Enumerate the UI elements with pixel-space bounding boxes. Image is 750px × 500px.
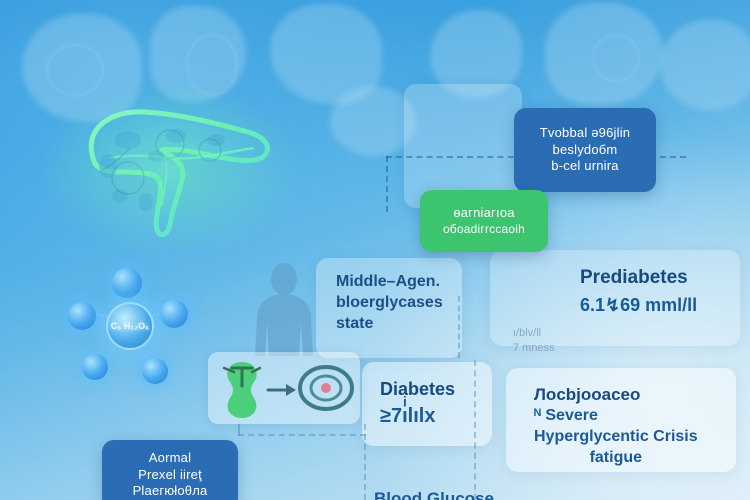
prediabetes-value: 6.1↯69 mml/ll [580,294,697,317]
severe-line-1: Лocbjooaceo [534,384,698,406]
severe-line-3: Hyperglycentic Crisis [534,427,698,448]
receptor-target-icon [300,367,352,409]
insulin-beta-cell-chip[interactable]: Tvobbal ə96jlin beslydoбm b-cel urnira [514,108,656,192]
glucose-molecule-diagram: C₆ H₁₂O₆ [66,266,204,384]
faint-measurement-note: ı/blv/ll 7 mness [513,326,555,356]
diabetes-value: ≥7ıͥlılx [380,403,455,429]
bottom-cut-label: Blood Glucose [374,488,494,500]
faint-note-line-1: ı/blv/ll [513,326,555,341]
molecule-node-left [68,302,96,330]
molecule-node-top [112,268,142,298]
chip-line-1: Aormal [149,450,191,467]
chip-line-2: beslydoбm [553,142,618,159]
molecule-node-bottom-left [82,354,108,380]
prediabetes-heading: Prediabetes [580,266,697,291]
chip-line-2: oбoadiгrccaoih [443,222,525,237]
faint-note-line-2: 7 mness [513,341,555,356]
connector-bottom-left-horizontal [238,434,366,436]
prediabetes-range-block: Prediabetes 6.1↯69 mml/ll [580,266,697,317]
middle-aged-line-2: bloerglycases [336,293,443,314]
person-icon [247,262,321,358]
molecule-core-label: C₆ H₁₂O₆ [111,322,149,331]
chip-line-2: Prexel iireţ [138,467,202,484]
middle-aged-line-1: Middle–Agen. [336,272,443,293]
cell-receptor-graphic [208,352,360,424]
middle-aged-state-block: Middle–Agen. bloerglycases state [336,272,443,334]
infographic-canvas: C₆ H₁₂O₆ Tvob [0,0,750,500]
beta-cell-icon [224,362,260,418]
molecule-core-node: C₆ H₁₂O₆ [106,302,154,350]
middle-aged-line-3: state [336,314,443,335]
molecule-node-bottom-right [142,358,168,384]
pancreas-function-chip[interactable]: өaгniaгıoa oбoadiгrccaoih [420,190,548,252]
bottom-cut-label-text: Blood Glucose [374,489,494,500]
arrow-right-icon [268,384,296,396]
severe-crisis-block: Лocbjooaceo ᴺ Severe Hyperglycentic Cris… [534,384,698,468]
chip-line-3: Plaeгюłoθлa [133,483,208,500]
severe-line-2: ᴺ Severe [534,406,698,427]
chip-line-1: өaгniaгıoa [453,205,514,222]
cell-to-receptor-diagram [208,352,360,424]
diabetes-heading: Diabetes [380,378,455,401]
chip-line-1: Tvobbal ə96jlin [540,125,630,142]
pancreas-illustration [58,92,294,240]
pancreas-glow [44,78,308,254]
severe-line-4: fatigue [534,448,698,469]
connector-top-down [386,156,388,212]
diabetes-threshold-block: Diabetes ≥7ıͥlılx [380,378,455,429]
human-torso-silhouette [247,262,321,358]
normal-range-chip[interactable]: Aormal Prexel iireţ Plaeгюłoθлa [102,440,238,500]
chip-line-3: b-cel urnira [551,158,618,175]
connector-normal-up [238,424,240,436]
molecule-node-right [160,300,188,328]
